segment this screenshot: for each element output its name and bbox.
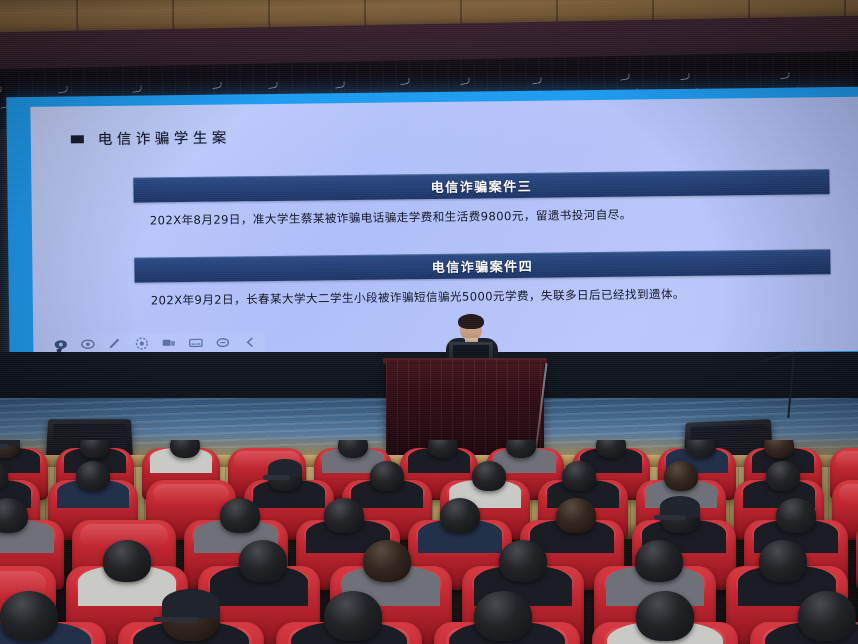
presenter-hair bbox=[458, 314, 484, 329]
curtain-hook bbox=[619, 73, 630, 81]
curtain-hook bbox=[399, 78, 410, 86]
audience-member-head bbox=[440, 498, 480, 533]
curtain-hook bbox=[679, 73, 690, 81]
audience-member-head bbox=[664, 461, 698, 491]
audience-member-head bbox=[370, 461, 404, 491]
audience-member-head bbox=[239, 540, 287, 582]
audience-member-head bbox=[596, 440, 626, 458]
curtain-hook bbox=[211, 82, 222, 90]
audience-member-head bbox=[363, 540, 411, 582]
curtain-hook bbox=[459, 78, 470, 86]
slide-title-text: 电信诈骗学生案 bbox=[98, 126, 231, 149]
pen-icon[interactable] bbox=[107, 337, 122, 351]
audience-member-head bbox=[636, 591, 694, 641]
audience-member-cap bbox=[660, 496, 700, 517]
audience-member-head bbox=[798, 591, 856, 641]
audience-member-cap bbox=[268, 459, 302, 477]
projection-screen: 电信诈骗学生案 电信诈骗案件三 202X年8月29日，准大学生蔡某被诈骗电话骗走… bbox=[6, 87, 858, 375]
audience-member-head bbox=[338, 440, 368, 458]
audience-member-head bbox=[562, 461, 596, 491]
slide-grid-icon[interactable] bbox=[161, 336, 176, 350]
spotlight-icon[interactable] bbox=[134, 336, 149, 350]
audience-member-head bbox=[474, 591, 532, 641]
projection-screen-area: 电信诈骗学生案 电信诈骗案件三 202X年8月29日，准大学生蔡某被诈骗电话骗走… bbox=[6, 87, 858, 375]
slide-title: 电信诈骗学生案 bbox=[71, 126, 231, 149]
case-banner-text: 电信诈骗案件四 bbox=[432, 256, 534, 276]
audience-member-head bbox=[170, 440, 200, 458]
auditorium-photo: 电信诈骗学生案 电信诈骗案件三 202X年8月29日，准大学生蔡某被诈骗电话骗走… bbox=[0, 0, 858, 644]
audience-member-head bbox=[324, 591, 382, 641]
case-banner-text: 电信诈骗案件三 bbox=[431, 176, 533, 196]
audience-seating bbox=[0, 440, 858, 644]
audience-member-head bbox=[324, 498, 364, 533]
audience-member-head bbox=[776, 498, 816, 533]
subtitles-icon[interactable] bbox=[188, 336, 203, 350]
curtain-hook bbox=[779, 72, 790, 80]
audience-member-head bbox=[506, 440, 536, 458]
audience-member-head bbox=[103, 540, 151, 582]
audience-member-head bbox=[635, 540, 683, 582]
audience-member-head bbox=[220, 498, 260, 533]
audience-member-head bbox=[499, 540, 547, 582]
square-bullet-icon bbox=[71, 135, 84, 143]
curtain-hook bbox=[531, 77, 542, 85]
audience-member-head bbox=[76, 461, 110, 491]
audience-member-head bbox=[759, 540, 807, 582]
audience-member-head bbox=[428, 440, 458, 458]
audience-member-head bbox=[472, 461, 506, 491]
pointer-options-icon[interactable] bbox=[80, 337, 95, 351]
powerpoint-slide: 电信诈骗学生案 电信诈骗案件三 202X年8月29日，准大学生蔡某被诈骗电话骗走… bbox=[30, 97, 858, 361]
audience-member-head bbox=[80, 440, 110, 458]
case-block-three: 电信诈骗案件三 202X年8月29日，准大学生蔡某被诈骗电话骗走学费和生活费98… bbox=[133, 169, 830, 230]
audience-member-cap bbox=[0, 440, 20, 446]
audience-member-head bbox=[766, 461, 800, 491]
audience-member-cap bbox=[162, 589, 220, 619]
zoom-icon[interactable] bbox=[215, 335, 230, 349]
case-block-four: 电信诈骗案件四 202X年9月2日，长春某大学大二学生小段被诈骗短信骗光5000… bbox=[134, 249, 831, 310]
audience-member-head bbox=[764, 440, 794, 458]
audience-member-head bbox=[686, 440, 716, 458]
audience-member-head bbox=[0, 591, 58, 641]
laptop-screen bbox=[453, 345, 489, 358]
audience-member-head bbox=[556, 498, 596, 533]
more-options-icon[interactable] bbox=[242, 335, 257, 349]
